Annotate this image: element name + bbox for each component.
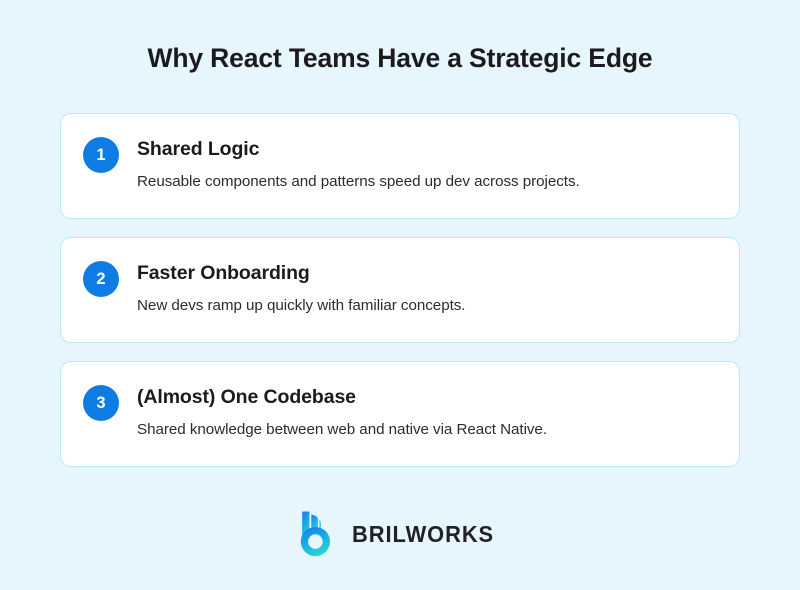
card-number-badge: 3 [83,385,119,421]
card-number-badge: 2 [83,261,119,297]
card-text-block: (Almost) One Codebase Shared knowledge b… [119,384,547,441]
card-description: Reusable components and patterns speed u… [137,171,580,193]
benefit-card-2: 2 Faster Onboarding New devs ramp up qui… [60,237,740,343]
page-title: Why React Teams Have a Strategic Edge [0,41,800,75]
brilworks-b-logo-icon [299,510,339,558]
card-description: Shared knowledge between web and native … [137,419,547,441]
benefit-card-1: 1 Shared Logic Reusable components and p… [60,113,740,219]
card-text-block: Shared Logic Reusable components and pat… [119,136,580,193]
page-root: Why React Teams Have a Strategic Edge 1 … [0,0,800,590]
benefit-card-list: 1 Shared Logic Reusable components and p… [60,113,740,467]
card-heading: Shared Logic [137,136,580,162]
benefit-card-3: 3 (Almost) One Codebase Shared knowledge… [60,361,740,467]
card-row: 2 Faster Onboarding New devs ramp up qui… [83,260,715,317]
brand-wordmark: BRILWORKS [352,523,494,546]
card-row: 1 Shared Logic Reusable components and p… [83,136,715,193]
card-heading: Faster Onboarding [137,260,465,286]
footer-branding: BRILWORKS [0,510,800,558]
card-heading: (Almost) One Codebase [137,384,547,410]
card-number-badge: 1 [83,137,119,173]
card-row: 3 (Almost) One Codebase Shared knowledge… [83,384,715,441]
card-description: New devs ramp up quickly with familiar c… [137,295,465,317]
card-text-block: Faster Onboarding New devs ramp up quick… [119,260,465,317]
